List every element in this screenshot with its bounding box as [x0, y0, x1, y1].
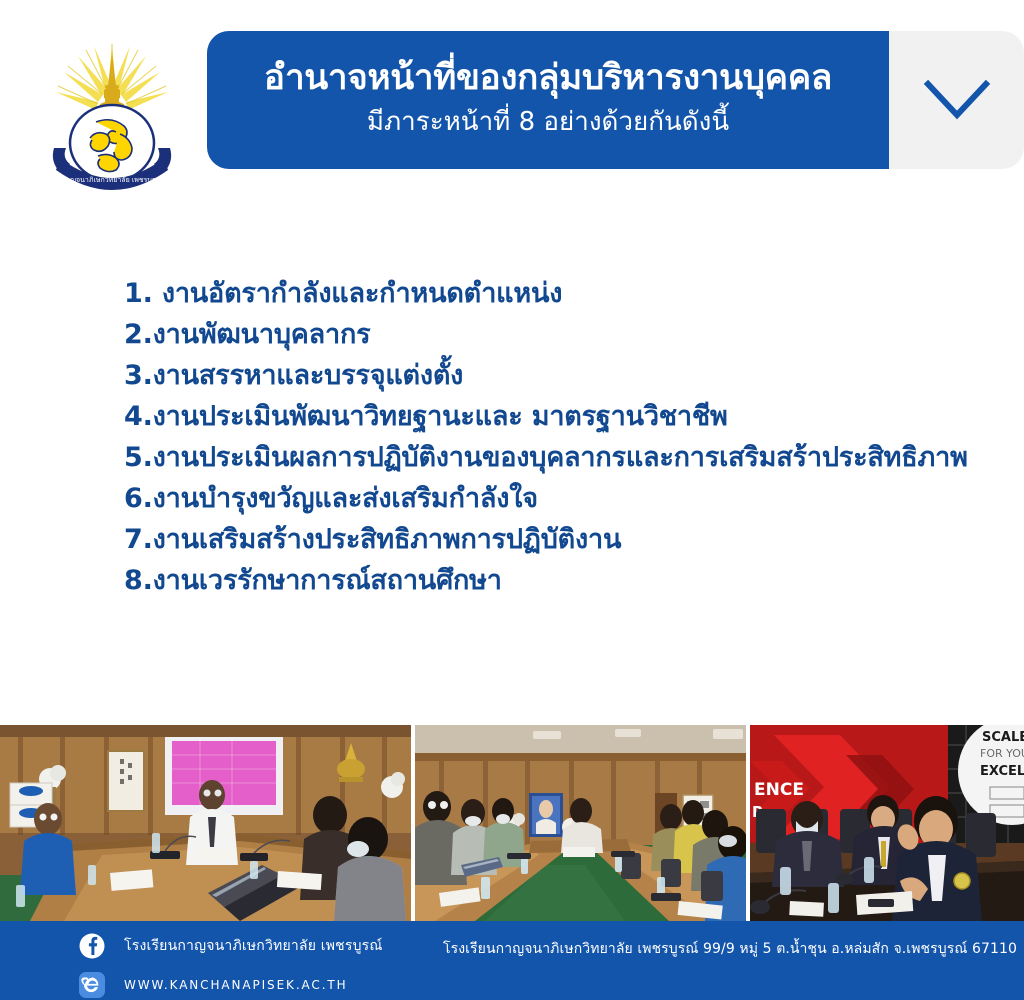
- list-item-number: 7.: [124, 524, 153, 555]
- footer-facebook-label: โรงเรียนกาญจนาภิเษกวิทยาลัย เพชรบูรณ์: [124, 935, 383, 957]
- chevron-down-icon[interactable]: [922, 78, 992, 122]
- meeting-photo-projector: [0, 725, 411, 921]
- facebook-icon[interactable]: [78, 932, 106, 960]
- duties-section: 1. งานอัตรากำลังและกำหนดตำแหน่ง 2.งานพัฒ…: [0, 205, 1024, 725]
- footer-address: โรงเรียนกาญจนาภิเษกวิทยาลัย เพชรบูรณ์ 99…: [443, 938, 1017, 960]
- list-item-number: 2.: [124, 319, 153, 350]
- list-item-number: 6.: [124, 483, 153, 514]
- title-banner-blue: อำนาจหน้าที่ของกลุ่มบริหารงานบุคคล มีภาร…: [207, 31, 889, 169]
- list-item-number: 4.: [124, 401, 153, 432]
- crest-ribbon-label: กาญจนาภิเษกวิทยาลัย เพชรบูรณ์: [62, 176, 163, 184]
- list-item-label: งานพัฒนาบุคลากร: [153, 319, 371, 350]
- meeting-photo-wide-room: [415, 725, 746, 921]
- footer-links: โรงเรียนกาญจนาภิเษกวิทยาลัย เพชรบูรณ์ WW…: [78, 931, 458, 1000]
- footer-website-link[interactable]: WWW.KANCHANAPISEK.AC.TH: [78, 970, 458, 1000]
- internet-explorer-icon[interactable]: [78, 971, 106, 999]
- list-item: 4.งานประเมินพัฒนาวิทยฐานะและ มาตรฐานวิชา…: [124, 396, 1024, 437]
- footer-website-label: WWW.KANCHANAPISEK.AC.TH: [124, 978, 348, 992]
- infographic-page: กาญจนาภิเษกวิทยาลัย เพชรบูรณ์ อำนาจหน้าท…: [0, 0, 1024, 1000]
- expand-panel[interactable]: [889, 31, 1024, 169]
- footer-facebook-link[interactable]: โรงเรียนกาญจนาภิเษกวิทยาลัย เพชรบูรณ์: [78, 931, 458, 961]
- list-item-number: 8.: [124, 565, 153, 596]
- list-item-number: 5.: [124, 442, 153, 473]
- duties-list: 1. งานอัตรากำลังและกำหนดตำแหน่ง 2.งานพัฒ…: [124, 273, 1024, 601]
- list-item: 1. งานอัตรากำลังและกำหนดตำแหน่ง: [124, 273, 1024, 314]
- seminar-photo-red-backdrop: ENCE R SCALE FOR YOU EXCEL: [750, 725, 1024, 921]
- backdrop-text-foryou: FOR YOU: [980, 747, 1024, 760]
- backdrop-text-scale: SCALE: [982, 730, 1024, 745]
- list-item-label: งานอัตรากำลังและกำหนดตำแหน่ง: [162, 278, 562, 309]
- list-item-label: งานประเมินผลการปฏิบัติงานของบุคลากรและกา…: [153, 442, 968, 473]
- list-item-label: งานเสริมสร้างประสิทธิภาพการปฏิบัติงาน: [153, 524, 622, 555]
- list-item: 6.งานบำรุงขวัญและส่งเสริมกำลังใจ: [124, 478, 1024, 519]
- page-footer: โรงเรียนกาญจนาภิเษกวิทยาลัย เพชรบูรณ์ WW…: [0, 921, 1024, 1000]
- page-title: อำนาจหน้าที่ของกลุ่มบริหารงานบุคคล: [264, 58, 832, 99]
- list-item-label: งานบำรุงขวัญและส่งเสริมกำลังใจ: [153, 483, 538, 514]
- list-item: 3.งานสรรหาและบรรจุแต่งตั้ง: [124, 355, 1024, 396]
- list-item: 8.งานเวรรักษาการณ์สถานศึกษา: [124, 560, 1024, 601]
- list-item: 2.งานพัฒนาบุคลากร: [124, 314, 1024, 355]
- page-subtitle: มีภาระหน้าที่ 8 อย่างด้วยกันดังนี้: [367, 106, 729, 139]
- list-item-number: 1.: [124, 278, 153, 309]
- backdrop-text-ence: ENCE: [754, 780, 804, 800]
- list-item-label: งานประเมินพัฒนาวิทยฐานะและ มาตรฐานวิชาชี…: [153, 401, 728, 432]
- title-banner: อำนาจหน้าที่ของกลุ่มบริหารงานบุคคล มีภาร…: [207, 31, 1024, 169]
- list-item: 7.งานเสริมสร้างประสิทธิภาพการปฏิบัติงาน: [124, 519, 1024, 560]
- photo-strip: ENCE R SCALE FOR YOU EXCEL: [0, 725, 1024, 921]
- list-item-label: งานสรรหาและบรรจุแต่งตั้ง: [153, 360, 464, 391]
- list-item-label: งานเวรรักษาการณ์สถานศึกษา: [153, 565, 502, 596]
- list-item: 5.งานประเมินผลการปฏิบัติงานของบุคลากรและ…: [124, 437, 1024, 478]
- backdrop-text-excel: EXCEL: [980, 764, 1024, 779]
- school-crest-icon: กาญจนาภิเษกวิทยาลัย เพชรบูรณ์: [36, 30, 188, 190]
- list-item-number: 3.: [124, 360, 153, 391]
- page-header: กาญจนาภิเษกวิทยาลัย เพชรบูรณ์ อำนาจหน้าท…: [0, 0, 1024, 205]
